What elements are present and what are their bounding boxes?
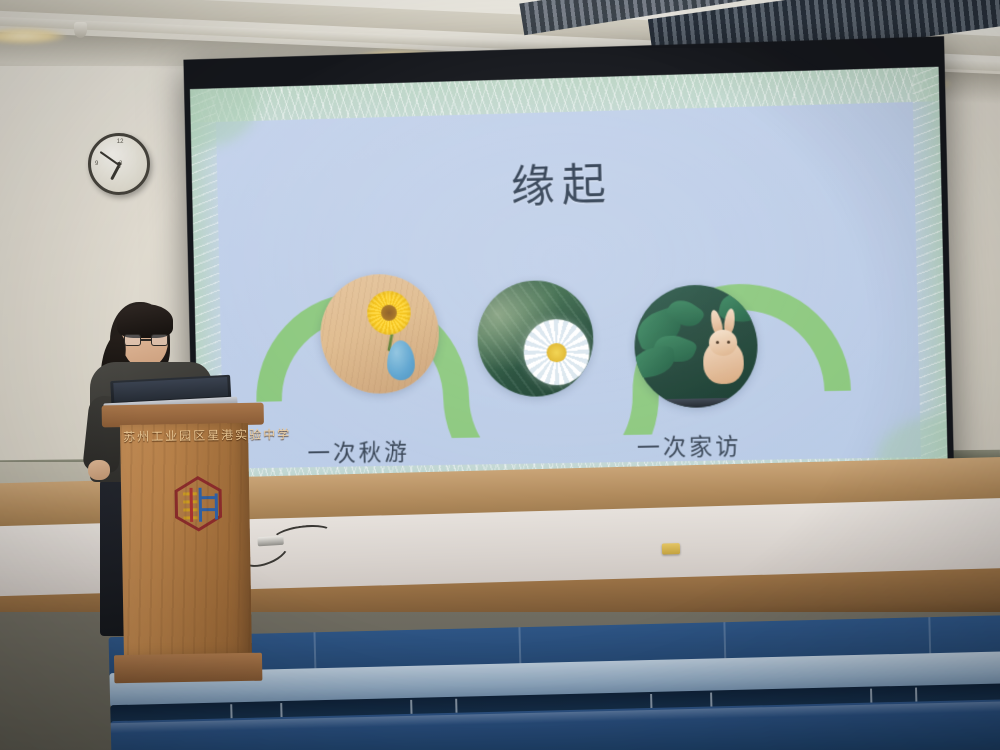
wall-clock: 12 3 6 9 <box>88 133 150 195</box>
podium-nameplate-text: 苏州工业园区星港实验中学 <box>132 421 282 448</box>
projection-screen-frame: 缘起 <box>183 36 955 523</box>
podium-lectern: 苏州工业园区星港实验中学 <box>108 403 263 684</box>
small-yellow-object <box>662 543 680 554</box>
school-hexagon-emblem-icon <box>173 475 224 532</box>
slide-photo-3 <box>633 284 759 409</box>
slide-corner-blob <box>190 67 260 150</box>
sprinkler-icon <box>74 22 87 38</box>
slide-label-right: 一次家访 <box>636 427 742 463</box>
clock-center-pin <box>117 162 121 166</box>
slide-label-left: 一次秋游 <box>307 433 410 468</box>
lecture-hall-photo: 12 3 6 9 缘起 <box>0 0 1000 750</box>
presentation-slide: 缘起 <box>190 67 949 509</box>
rabbit-figurine-icon <box>700 311 746 384</box>
white-daisy-icon <box>523 319 590 386</box>
projection-screen-surface: 缘起 <box>190 67 949 509</box>
slide-leaf-border-top <box>190 67 939 123</box>
glasses-icon <box>124 334 168 346</box>
slide-photo-1 <box>319 273 440 395</box>
yellow-gerbera-icon <box>367 290 411 335</box>
slide-title: 缘起 <box>192 140 942 224</box>
slide-photo-2 <box>476 279 594 397</box>
